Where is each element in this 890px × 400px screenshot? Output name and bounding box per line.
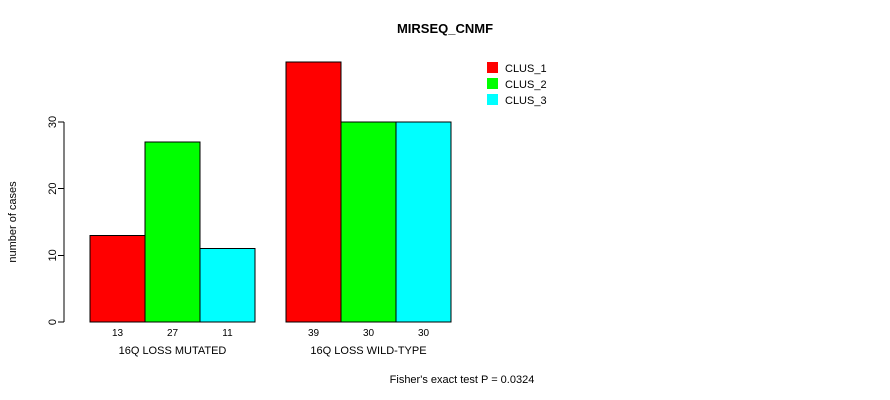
fisher-test-annotation: Fisher's exact test P = 0.0324 xyxy=(390,374,535,386)
bar-clus_1-group1[interactable] xyxy=(90,235,145,322)
legend-label-clus_1: CLUS_1 xyxy=(505,63,547,75)
legend-swatch-clus_1 xyxy=(487,62,498,73)
y-axis-tick-label: 20 xyxy=(47,183,59,195)
y-axis-title: number of cases xyxy=(7,181,19,263)
chart-title: MIRSEQ_CNMF xyxy=(397,21,493,36)
group-label: 16Q LOSS MUTATED xyxy=(119,345,227,357)
chart-canvas: MIRSEQ_CNMF0102030number of cases1327111… xyxy=(0,0,890,400)
legend-swatch-clus_2 xyxy=(487,78,498,89)
bar-clus_1-group2[interactable] xyxy=(286,62,341,322)
bar-clus_3-group2[interactable] xyxy=(396,122,451,322)
barplot-figure: MIRSEQ_CNMF0102030number of cases1327111… xyxy=(0,0,890,400)
group-label: 16Q LOSS WILD-TYPE xyxy=(310,345,426,357)
bar-value-label: 27 xyxy=(167,328,179,339)
bar-clus_3-group1[interactable] xyxy=(200,249,255,322)
bar-value-label: 11 xyxy=(222,328,233,339)
y-axis-tick-label: 30 xyxy=(47,116,59,128)
legend-label-clus_3: CLUS_3 xyxy=(505,95,547,107)
y-axis-tick-label: 10 xyxy=(47,249,59,261)
y-axis-tick-label: 0 xyxy=(47,319,59,325)
legend-label-clus_2: CLUS_2 xyxy=(505,79,547,91)
bar-value-label: 30 xyxy=(363,328,375,339)
bar-value-label: 39 xyxy=(308,328,320,339)
bar-value-label: 13 xyxy=(112,328,124,339)
bar-value-label: 30 xyxy=(418,328,430,339)
legend-swatch-clus_3 xyxy=(487,94,498,105)
bar-clus_2-group1[interactable] xyxy=(145,142,200,322)
bar-clus_2-group2[interactable] xyxy=(341,122,396,322)
